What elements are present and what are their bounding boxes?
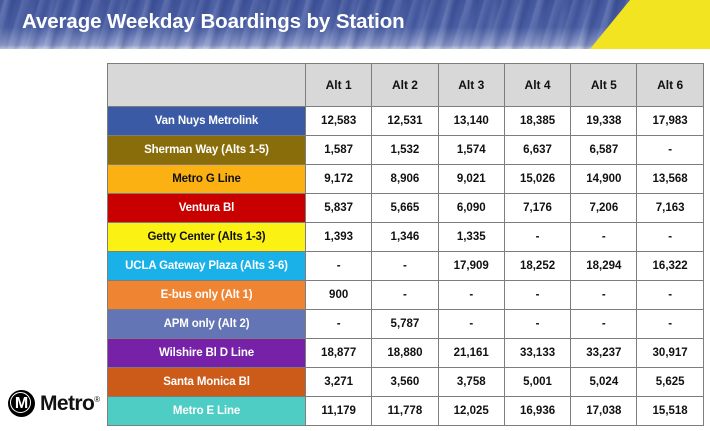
cell-r0-c2: 13,140 <box>438 107 504 136</box>
cell-r10-c2: 12,025 <box>438 397 504 426</box>
cell-r5-c3: 18,252 <box>504 252 570 281</box>
table-header-row: Alt 1 Alt 2 Alt 3 Alt 4 Alt 5 Alt 6 <box>108 64 704 107</box>
table-row: Sherman Way (Alts 1-5)1,5871,5321,5746,6… <box>108 136 704 165</box>
table-row: UCLA Gateway Plaza (Alts 3-6)--17,90918,… <box>108 252 704 281</box>
cell-r1-c1: 1,532 <box>372 136 438 165</box>
cell-r0-c0: 12,583 <box>306 107 372 136</box>
cell-r1-c0: 1,587 <box>306 136 372 165</box>
cell-r3-c3: 7,176 <box>504 194 570 223</box>
table-row: Ventura Bl5,8375,6656,0907,1767,2067,163 <box>108 194 704 223</box>
cell-r5-c2: 17,909 <box>438 252 504 281</box>
cell-r8-c0: 18,877 <box>306 339 372 368</box>
cell-r5-c0: - <box>306 252 372 281</box>
cell-r4-c4: - <box>571 223 637 252</box>
cell-r2-c0: 9,172 <box>306 165 372 194</box>
row-label-4: Getty Center (Alts 1-3) <box>108 223 306 252</box>
cell-r0-c1: 12,531 <box>372 107 438 136</box>
cell-r2-c4: 14,900 <box>571 165 637 194</box>
cell-r1-c4: 6,587 <box>571 136 637 165</box>
column-header-alt-3: Alt 3 <box>438 64 504 107</box>
cell-r7-c5: - <box>637 310 703 339</box>
page-header-banner: Average Weekday Boardings by Station <box>0 0 710 49</box>
table-row: E-bus only (Alt 1)900----- <box>108 281 704 310</box>
column-header-alt-5: Alt 5 <box>571 64 637 107</box>
table-row: Getty Center (Alts 1-3)1,3931,3461,335--… <box>108 223 704 252</box>
cell-r6-c3: - <box>504 281 570 310</box>
cell-r2-c2: 9,021 <box>438 165 504 194</box>
metro-wordmark-text: Metro <box>40 392 94 415</box>
cell-r0-c4: 19,338 <box>571 107 637 136</box>
row-label-6: E-bus only (Alt 1) <box>108 281 306 310</box>
banner-yellow-wedge <box>590 0 710 49</box>
cell-r3-c1: 5,665 <box>372 194 438 223</box>
page-title: Average Weekday Boardings by Station <box>22 10 405 34</box>
cell-r4-c1: 1,346 <box>372 223 438 252</box>
column-header-alt-2: Alt 2 <box>372 64 438 107</box>
cell-r6-c4: - <box>571 281 637 310</box>
table-row: Santa Monica Bl3,2713,5603,7585,0015,024… <box>108 368 704 397</box>
cell-r9-c3: 5,001 <box>504 368 570 397</box>
row-label-7: APM only (Alt 2) <box>108 310 306 339</box>
cell-r4-c2: 1,335 <box>438 223 504 252</box>
cell-r6-c1: - <box>372 281 438 310</box>
cell-r10-c4: 17,038 <box>571 397 637 426</box>
cell-r6-c2: - <box>438 281 504 310</box>
cell-r1-c2: 1,574 <box>438 136 504 165</box>
cell-r7-c1: 5,787 <box>372 310 438 339</box>
table-row: Van Nuys Metrolink12,58312,53113,14018,3… <box>108 107 704 136</box>
cell-r10-c5: 15,518 <box>637 397 703 426</box>
cell-r6-c5: - <box>637 281 703 310</box>
cell-r3-c5: 7,163 <box>637 194 703 223</box>
row-label-10: Metro E Line <box>108 397 306 426</box>
metro-m-icon: M <box>8 390 35 417</box>
row-label-1: Sherman Way (Alts 1-5) <box>108 136 306 165</box>
cell-r9-c0: 3,271 <box>306 368 372 397</box>
cell-r8-c2: 21,161 <box>438 339 504 368</box>
header-corner-cell <box>108 64 306 107</box>
table-row: Metro E Line11,17911,77812,02516,93617,0… <box>108 397 704 426</box>
cell-r9-c2: 3,758 <box>438 368 504 397</box>
table-row: Wilshire Bl D Line18,87718,88021,16133,1… <box>108 339 704 368</box>
row-label-5: UCLA Gateway Plaza (Alts 3-6) <box>108 252 306 281</box>
cell-r7-c3: - <box>504 310 570 339</box>
cell-r7-c0: - <box>306 310 372 339</box>
cell-r8-c5: 30,917 <box>637 339 703 368</box>
table-row: APM only (Alt 2)-5,787---- <box>108 310 704 339</box>
row-label-0: Van Nuys Metrolink <box>108 107 306 136</box>
cell-r3-c4: 7,206 <box>571 194 637 223</box>
metro-m-letter: M <box>8 390 35 417</box>
cell-r0-c5: 17,983 <box>637 107 703 136</box>
cell-r10-c3: 16,936 <box>504 397 570 426</box>
cell-r5-c1: - <box>372 252 438 281</box>
row-label-9: Santa Monica Bl <box>108 368 306 397</box>
cell-r8-c4: 33,237 <box>571 339 637 368</box>
cell-r10-c1: 11,778 <box>372 397 438 426</box>
cell-r2-c3: 15,026 <box>504 165 570 194</box>
column-header-alt-1: Alt 1 <box>306 64 372 107</box>
cell-r7-c2: - <box>438 310 504 339</box>
registered-trademark-icon: ® <box>94 395 99 404</box>
row-label-8: Wilshire Bl D Line <box>108 339 306 368</box>
cell-r5-c4: 18,294 <box>571 252 637 281</box>
cell-r4-c0: 1,393 <box>306 223 372 252</box>
table-head: Alt 1 Alt 2 Alt 3 Alt 4 Alt 5 Alt 6 <box>108 64 704 107</box>
cell-r3-c2: 6,090 <box>438 194 504 223</box>
cell-r7-c4: - <box>571 310 637 339</box>
cell-r0-c3: 18,385 <box>504 107 570 136</box>
cell-r9-c1: 3,560 <box>372 368 438 397</box>
table-body: Van Nuys Metrolink12,58312,53113,14018,3… <box>108 107 704 426</box>
cell-r8-c3: 33,133 <box>504 339 570 368</box>
cell-r6-c0: 900 <box>306 281 372 310</box>
metro-logo: M Metro® <box>8 390 99 417</box>
cell-r2-c1: 8,906 <box>372 165 438 194</box>
cell-r9-c5: 5,625 <box>637 368 703 397</box>
cell-r5-c5: 16,322 <box>637 252 703 281</box>
metro-wordmark: Metro® <box>40 392 99 416</box>
cell-r3-c0: 5,837 <box>306 194 372 223</box>
column-header-alt-6: Alt 6 <box>637 64 703 107</box>
cell-r10-c0: 11,179 <box>306 397 372 426</box>
table-row: Metro G Line9,1728,9069,02115,02614,9001… <box>108 165 704 194</box>
cell-r1-c5: - <box>637 136 703 165</box>
cell-r9-c4: 5,024 <box>571 368 637 397</box>
cell-r2-c5: 13,568 <box>637 165 703 194</box>
cell-r1-c3: 6,637 <box>504 136 570 165</box>
column-header-alt-4: Alt 4 <box>504 64 570 107</box>
row-label-2: Metro G Line <box>108 165 306 194</box>
cell-r8-c1: 18,880 <box>372 339 438 368</box>
row-label-3: Ventura Bl <box>108 194 306 223</box>
cell-r4-c3: - <box>504 223 570 252</box>
boardings-table: Alt 1 Alt 2 Alt 3 Alt 4 Alt 5 Alt 6 Van … <box>107 63 704 426</box>
cell-r4-c5: - <box>637 223 703 252</box>
